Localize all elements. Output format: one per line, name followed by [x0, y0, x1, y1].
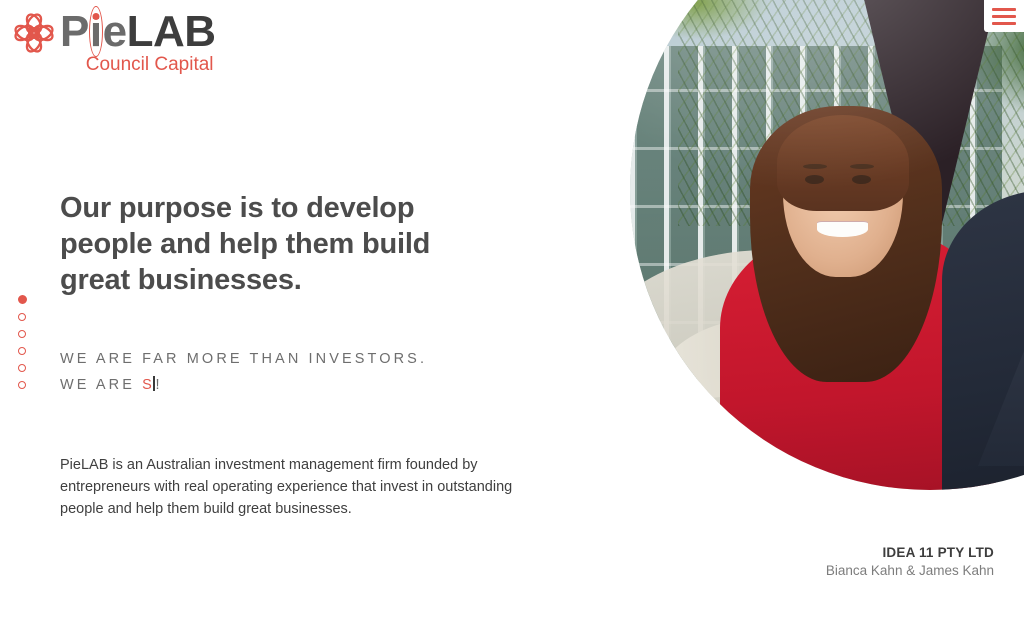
logo-wordmark: PieLAB: [60, 8, 216, 56]
slider-dot-2[interactable]: [18, 313, 26, 321]
hero-photo-circle: [630, 0, 1024, 490]
site-logo[interactable]: PieLAB Council Capital: [12, 8, 216, 76]
pielab-knot-mark-icon: [12, 10, 56, 56]
slider-dot-1[interactable]: [18, 295, 27, 304]
photo-person-woman-brow-left: [803, 164, 827, 169]
logo-row: PieLAB Council Capital: [12, 8, 216, 76]
slider-dot-4[interactable]: [18, 347, 26, 355]
page-root: PieLAB Council Capital Our purpose is to…: [0, 0, 1024, 640]
logo-tagline: Council Capital: [60, 54, 216, 76]
photo-person-woman-eye-right: [852, 175, 871, 184]
slider-dot-6[interactable]: [18, 381, 26, 389]
caption-people-names: Bianca Kahn & James Kahn: [826, 563, 994, 578]
photo-person-woman-smile: [817, 221, 867, 237]
logo-wordmark-pie: Pie: [60, 6, 127, 57]
hero-photo-image: [630, 0, 1024, 490]
typewriter-tagline: WE ARE FAR MORE THAN INVESTORS. WE ARE S…: [60, 346, 560, 398]
hero-content: Our purpose is to develop people and hel…: [60, 190, 560, 520]
slider-pagination[interactable]: [18, 295, 27, 389]
hamburger-icon-bar-1: [992, 8, 1016, 11]
typewriter-line-2-suffix: !: [156, 377, 163, 393]
slider-dot-3[interactable]: [18, 330, 26, 338]
logo-wordmark-group: PieLAB Council Capital: [60, 8, 216, 76]
logo-wordmark-lab: LAB: [127, 7, 216, 56]
typewriter-line-2-prefix: WE ARE: [60, 377, 142, 393]
hamburger-menu-button[interactable]: [984, 0, 1024, 32]
typewriter-caret: [153, 376, 155, 391]
typewriter-line-2: WE ARE S!: [60, 372, 560, 398]
caption-company-name: IDEA 11 PTY LTD: [826, 545, 994, 560]
page-headline: Our purpose is to develop people and hel…: [60, 190, 490, 298]
slider-dot-5[interactable]: [18, 364, 26, 372]
hamburger-icon-bar-2: [992, 15, 1016, 18]
intro-paragraph: PieLAB is an Australian investment manag…: [60, 454, 520, 520]
photo-person-woman-brow-right: [850, 164, 874, 169]
photo-person-woman-hair-front: [777, 115, 909, 211]
typewriter-line-1: WE ARE FAR MORE THAN INVESTORS.: [60, 346, 560, 372]
hamburger-icon-bar-3: [992, 22, 1016, 25]
logo-wordmark-i-dot: i: [89, 6, 103, 57]
logo-i-dot-accent: [92, 13, 99, 20]
photo-caption: IDEA 11 PTY LTD Bianca Kahn & James Kahn: [826, 545, 994, 578]
